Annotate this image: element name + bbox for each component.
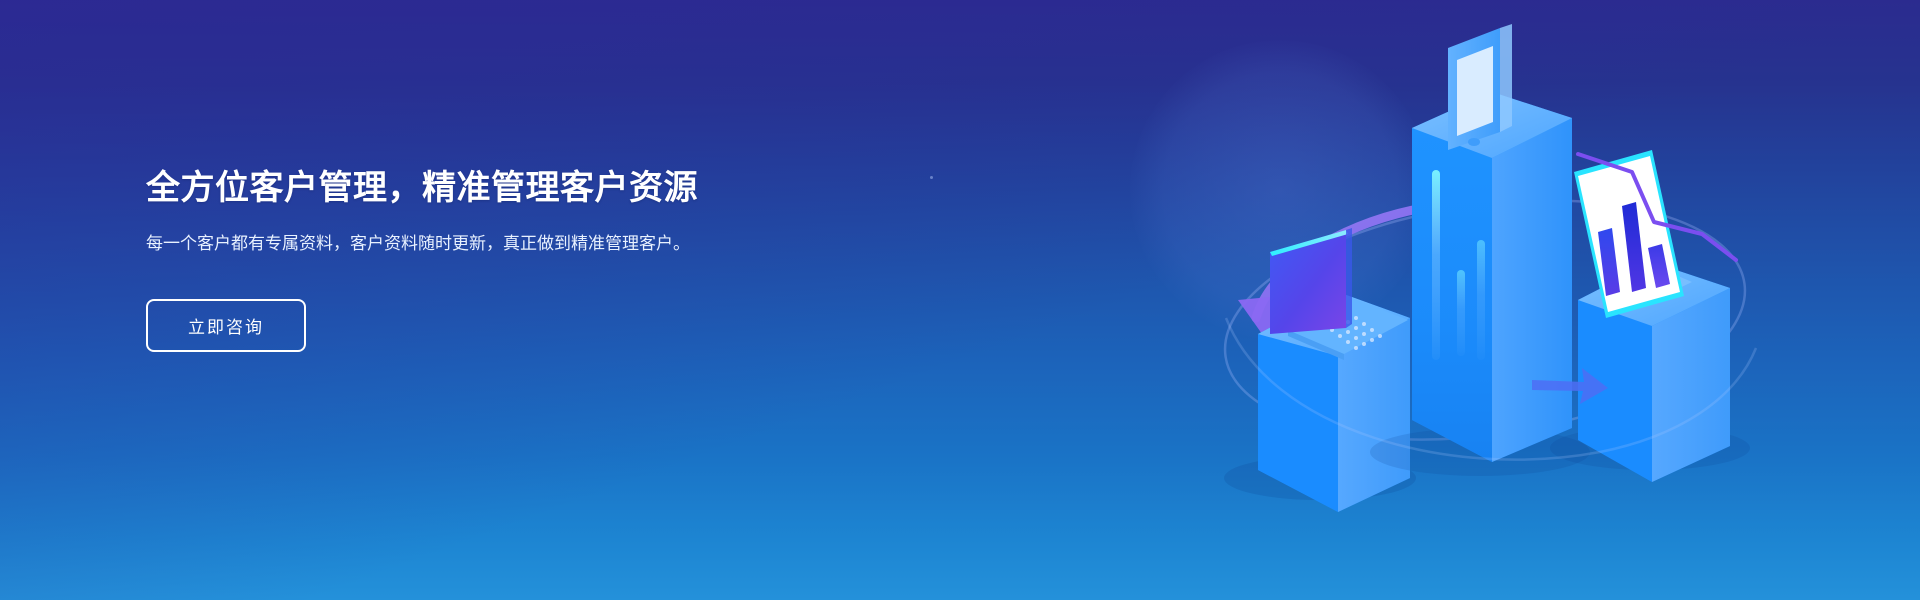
hero-copy-block: 全方位客户管理，精准管理客户资源 每一个客户都有专属资料，客户资料随时更新，真正… <box>146 168 766 352</box>
hero-illustration <box>1180 0 1800 600</box>
page-title: 全方位客户管理，精准管理客户资源 <box>146 168 766 209</box>
consult-now-button[interactable]: 立即咨询 <box>146 299 306 352</box>
hero-banner: 全方位客户管理，精准管理客户资源 每一个客户都有专属资料，客户资料随时更新，真正… <box>0 0 1920 600</box>
hero-subtitle: 每一个客户都有专属资料，客户资料随时更新，真正做到精准管理客户。 <box>146 231 726 257</box>
cta-row: 立即咨询 <box>146 299 766 352</box>
background-sparkle-dot <box>930 176 933 179</box>
